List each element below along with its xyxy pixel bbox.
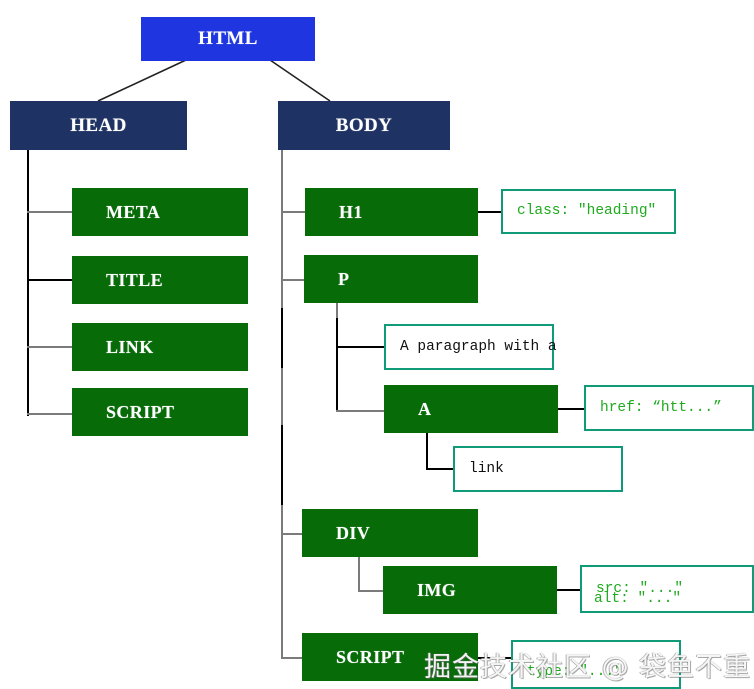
node-html[interactable]: HTML [141, 17, 315, 61]
node-head[interactable]: HEAD [10, 101, 187, 150]
connector-div-to-img [358, 590, 385, 592]
connector-head-to-link [27, 346, 73, 348]
connector-head-to-title [27, 279, 73, 281]
connector-body-to-script [281, 657, 303, 659]
connector-body-to-div [281, 533, 303, 535]
connector-p-to-text [336, 346, 386, 348]
connector-p-trunk-dark [336, 318, 338, 412]
text-node-box-paragraph[interactable]: A paragraph with a [384, 324, 554, 370]
connector-img-to-attrs [556, 589, 582, 591]
node-div[interactable]: DIV [302, 509, 478, 557]
node-p[interactable]: P [304, 255, 478, 303]
connector-body-to-h1 [281, 211, 306, 213]
connector-a-trunk [426, 432, 428, 470]
connector-body-to-p [281, 279, 305, 281]
node-meta[interactable]: META [72, 188, 248, 236]
connector-div-trunk [358, 557, 360, 592]
node-body[interactable]: BODY [278, 101, 450, 150]
attr-box-script-type[interactable]: type: "..." [511, 640, 681, 689]
connector-head-to-meta [27, 211, 73, 213]
connector-head-trunk-dark [27, 150, 29, 416]
dom-tree-diagram: HTML HEAD BODY META TITLE LINK SCRIPT H1… [0, 0, 754, 689]
attr-box-img-alt-line: alt: "..." [580, 565, 754, 613]
connector-head-to-script [27, 413, 73, 415]
node-head-script[interactable]: SCRIPT [72, 388, 248, 436]
connector-body-trunk-dark-1 [281, 308, 283, 368]
connector-h1-to-class [478, 211, 502, 213]
attr-box-h1-class[interactable]: class: "heading" [501, 189, 676, 234]
node-h1[interactable]: H1 [305, 188, 478, 236]
connector-script-to-type [478, 657, 513, 659]
connector-p-to-a [336, 410, 386, 412]
node-link[interactable]: LINK [72, 323, 248, 371]
attr-line-alt: alt: "..." [594, 590, 681, 608]
node-title[interactable]: TITLE [72, 256, 248, 304]
connector-body-trunk-dark-2 [281, 425, 283, 505]
node-img[interactable]: IMG [383, 566, 557, 614]
connector-a-to-href [557, 408, 584, 410]
connector-body-trunk [281, 150, 283, 658]
connector-a-to-link [426, 468, 456, 470]
attr-box-a-href[interactable]: href: “htt...” [584, 385, 754, 431]
text-node-box-link[interactable]: link [453, 446, 623, 492]
node-a[interactable]: A [384, 385, 558, 433]
node-body-script[interactable]: SCRIPT [302, 633, 478, 681]
